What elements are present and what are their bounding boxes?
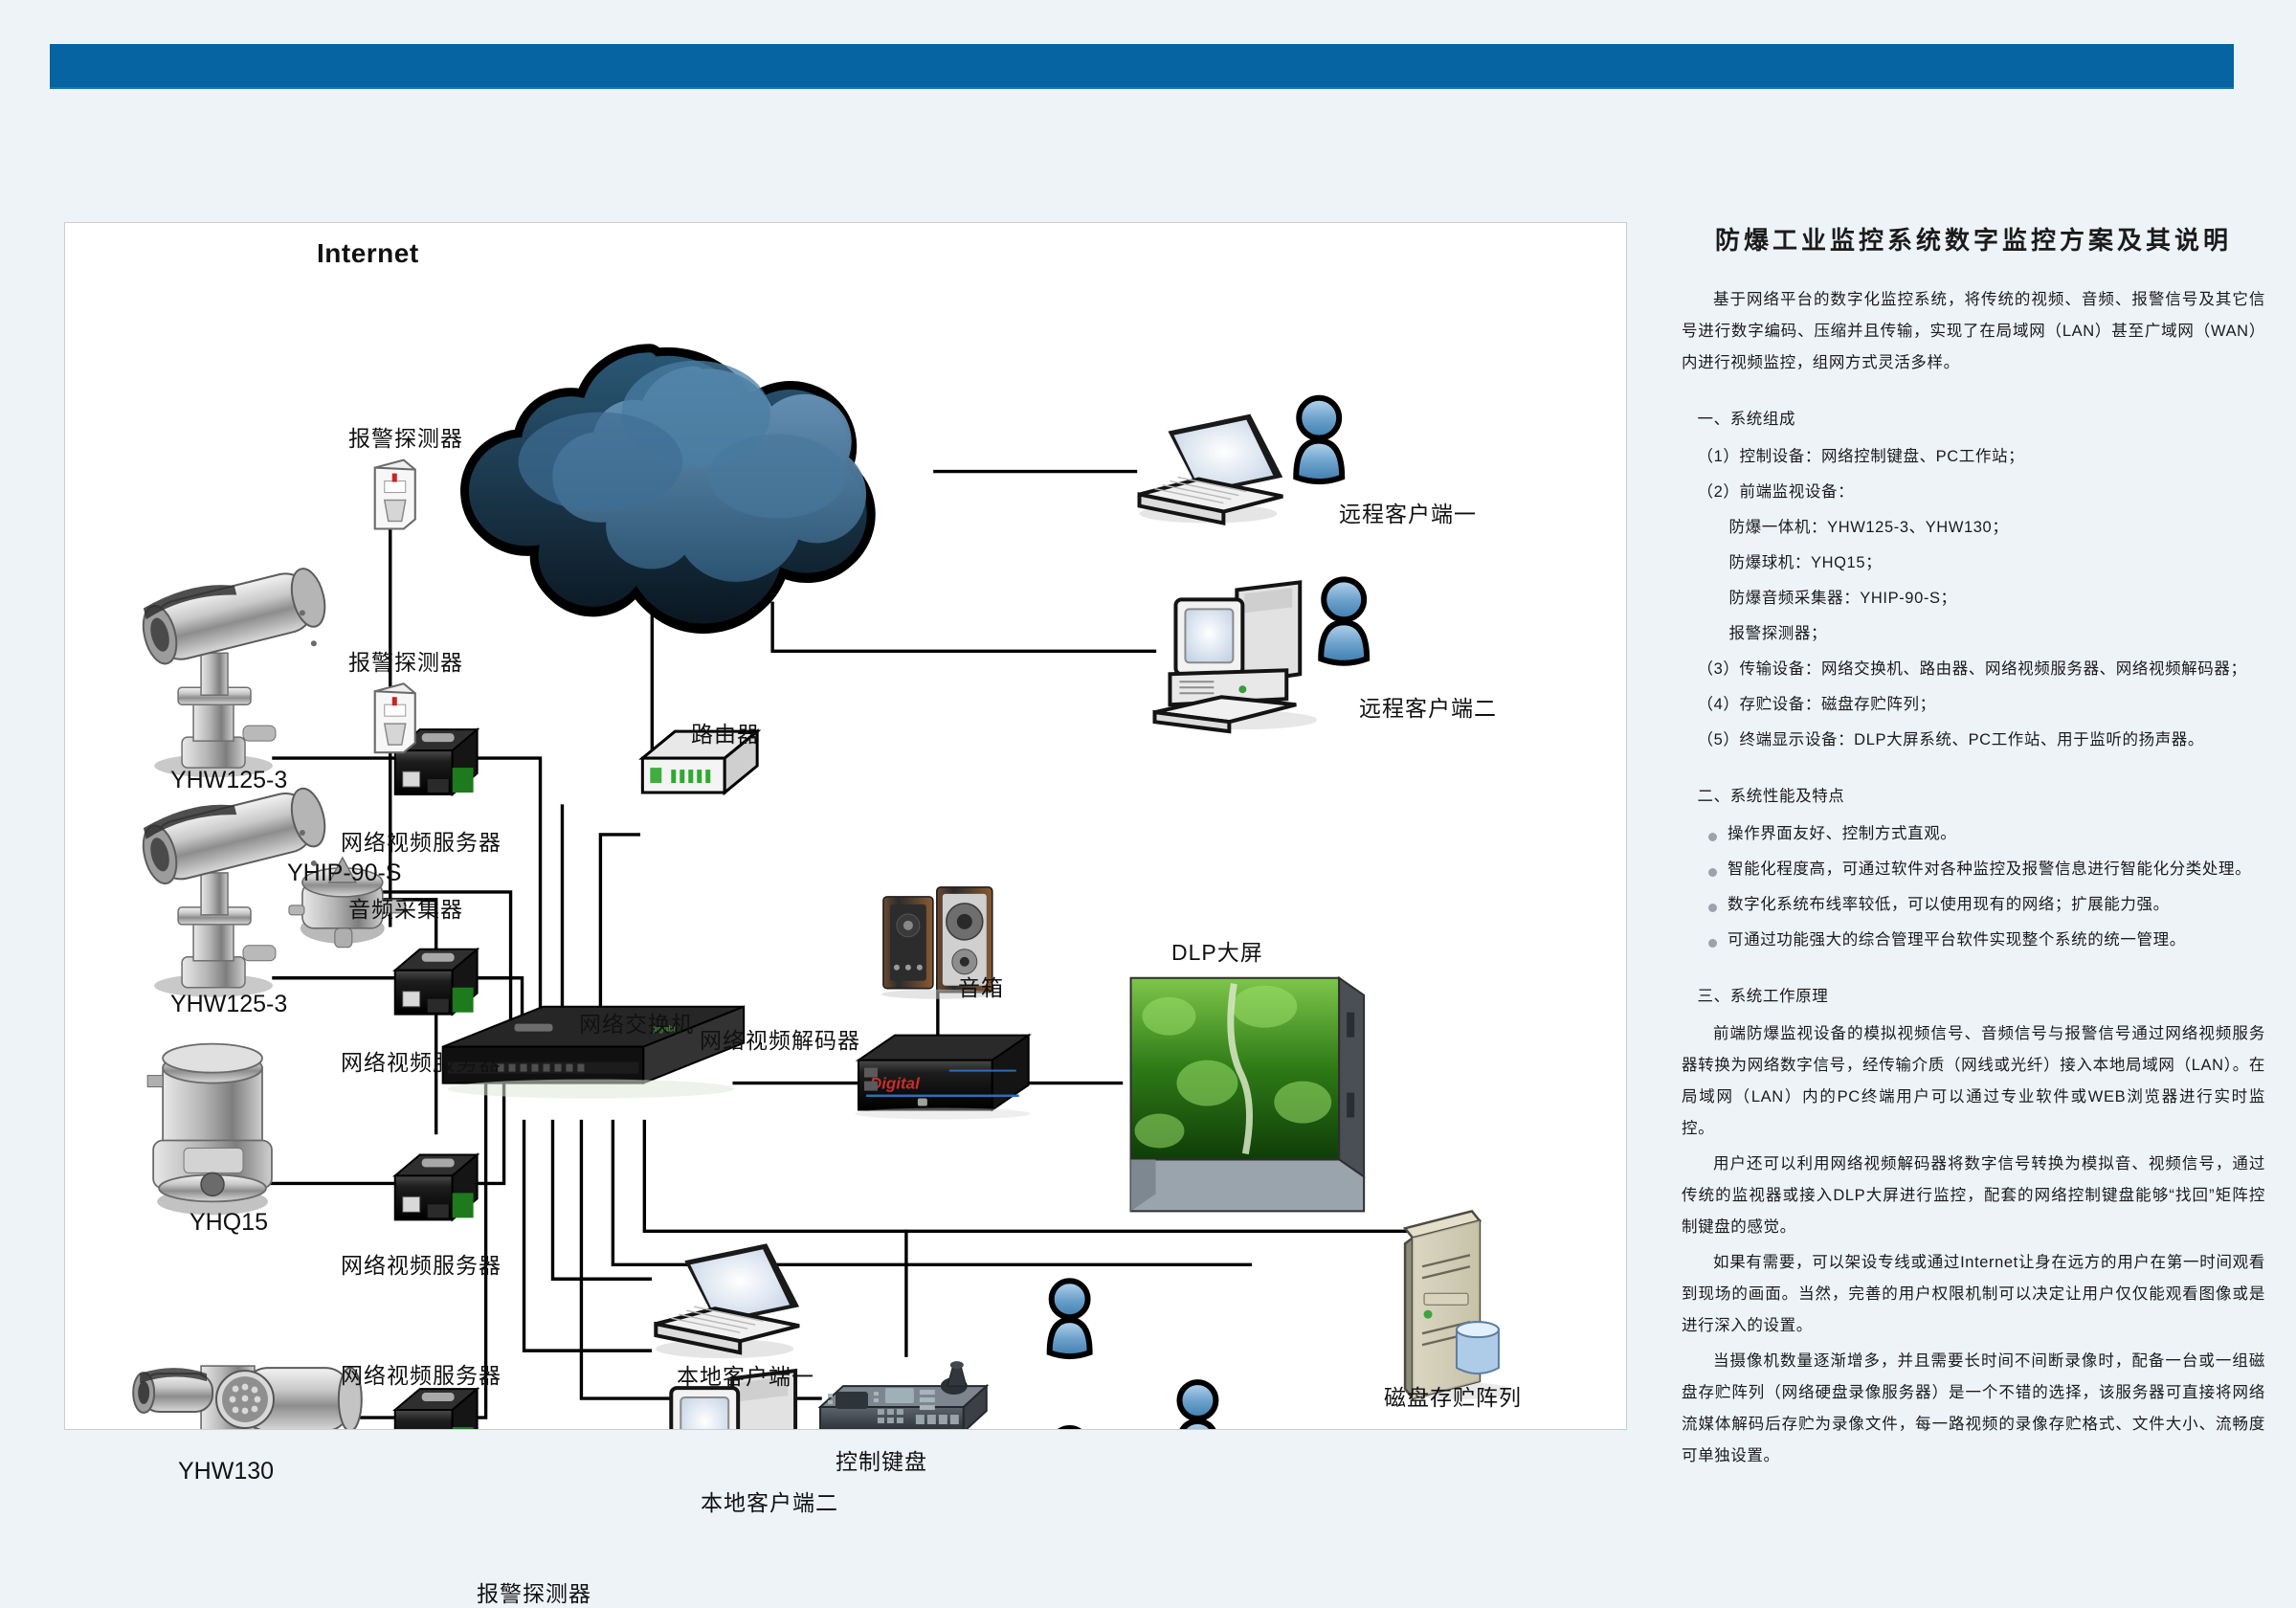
video-server-2-label: 网络视频服务器 — [341, 1044, 502, 1077]
remote-client-2-label: 远程客户端二 — [1359, 690, 1497, 723]
section-1-sub-2: 防爆球机：YHQ15； — [1682, 547, 2265, 579]
local-client-2-label: 本地客户端二 — [701, 1485, 838, 1517]
diagram-canvas: gigabit — [65, 223, 1626, 1429]
remote-client-1-laptop-icon — [1140, 414, 1283, 524]
router-label: 路由器 — [691, 716, 760, 748]
disk-storage-array-icon — [1405, 1211, 1512, 1399]
section-2-bullet-3: 数字化系统布线率较低，可以使用现有的网络；扩展能力强。 — [1682, 889, 2265, 921]
section-1-sub-4: 报警探测器； — [1682, 618, 2265, 650]
internet-label: Internet — [317, 238, 419, 269]
speaker-label: 音箱 — [958, 970, 1004, 1002]
control-keyboard-icon — [820, 1361, 987, 1429]
camera-yhw125-3-2-label: YHW125-3 — [170, 991, 287, 1018]
section-3-paragraph-1: 前端防爆监视设备的模拟视频信号、音频信号与报警信号通过网络视频服务器转换为网络数… — [1682, 1018, 2265, 1145]
document-text-panel: 防爆工业监控系统数字监控方案及其说明 基于网络平台的数字化监控系统，将传统的视频… — [1682, 226, 2265, 1470]
explosion-proof-camera-yhw125-3-2-icon — [136, 777, 330, 996]
section-1-item-1: （1）控制设备：网络控制键盘、PC工作站； — [1682, 441, 2265, 473]
section-1-item-4: （4）存贮设备：磁盘存贮阵列； — [1682, 689, 2265, 721]
camera-yhq15-label: YHQ15 — [189, 1209, 268, 1237]
section-1-heading: 一、系统组成 — [1682, 404, 2265, 435]
section-1-item-5: （5）终端显示设备：DLP大屏系统、PC工作站、用于监听的扬声器。 — [1682, 725, 2265, 756]
local-client-1-laptop-icon — [656, 1243, 799, 1358]
section-1-item-2: （2）前端监视设备： — [1682, 477, 2265, 508]
intro-paragraph: 基于网络平台的数字化监控系统，将传统的视频、音频、报警信号及其它信号进行数字编码… — [1682, 284, 2265, 379]
remote-client-1-label: 远程客户端一 — [1339, 496, 1477, 528]
audio-collector-label: 音频采集器 — [348, 891, 463, 924]
video-server-4-label: 网络视频服务器 — [341, 1357, 502, 1390]
alarm-detector-1-label: 报警探测器 — [348, 420, 463, 453]
control-keyboard-label: 控制键盘 — [836, 1443, 927, 1476]
section-3-heading: 三、系统工作原理 — [1682, 981, 2265, 1013]
section-2-heading: 二、系统性能及特点 — [1682, 781, 2265, 813]
section-2-bullet-1: 操作界面友好、控制方式直观。 — [1682, 818, 2265, 850]
page-title: 防爆工业监控系统数字监控方案及其说明 — [1682, 226, 2265, 256]
dlp-big-screen-icon — [1131, 978, 1365, 1212]
video-decoder-label: 网络视频解码器 — [700, 1022, 860, 1055]
disk-storage-array-label: 磁盘存贮阵列 — [1384, 1379, 1522, 1412]
camera-yhw125-3-label: YHW125-3 — [170, 767, 287, 794]
section-1-sub-3: 防爆音频采集器：YHIP-90-S； — [1682, 583, 2265, 614]
network-switch-label: 网络交换机 — [579, 1006, 694, 1038]
video-server-3-label: 网络视频服务器 — [341, 1247, 502, 1280]
network-topology-diagram: gigabit — [64, 222, 1627, 1430]
explosion-proof-dome-camera-yhq15-icon — [147, 1044, 272, 1216]
section-2-bullet-4: 可通过功能强大的综合管理平台软件实现整个系统的统一管理。 — [1682, 925, 2265, 956]
explosion-proof-camera-yhw125-3-icon — [136, 558, 330, 777]
dlp-screen-label: DLP大屏 — [1171, 934, 1263, 967]
audio-collector-model-label: YHIP-90-S — [287, 860, 401, 887]
remote-client-2-desktop-icon — [1154, 582, 1317, 731]
explosion-proof-camera-yhw130-icon — [133, 1366, 362, 1429]
section-1-item-3: （3）传输设备：网络交换机、路由器、网络视频服务器、网络视频解码器； — [1682, 654, 2265, 685]
network-video-decoder-icon: Digital — [855, 1036, 1031, 1120]
local-client-1-label: 本地客户端一 — [677, 1358, 814, 1391]
user-avatar-icon — [1050, 398, 1367, 1429]
internet-cloud-icon — [465, 348, 872, 634]
section-2-bullet-2: 智能化程度高，可通过软件对各种监控及报警信息进行智能化分类处理。 — [1682, 854, 2265, 885]
section-1-sub-1: 防爆一体机：YHW125-3、YHW130； — [1682, 512, 2265, 544]
camera-yhw130-label: YHW130 — [178, 1458, 274, 1485]
section-3-paragraph-3: 如果有需要，可以架设专线或通过Internet让身在远方的用户在第一时间观看到现… — [1682, 1247, 2265, 1342]
section-3-paragraph-4: 当摄像机数量逐渐增多，并且需要长时间不间断录像时，配备一台或一组磁盘存贮阵列（网… — [1682, 1346, 2265, 1472]
alarm-detector-3-label: 报警探测器 — [477, 1575, 591, 1608]
section-3-paragraph-2: 用户还可以利用网络视频解码器将数字信号转换为模拟音、视频信号，通过传统的监视器或… — [1682, 1149, 2265, 1243]
header-banner — [50, 44, 2234, 89]
video-server-1-label: 网络视频服务器 — [341, 824, 502, 857]
alarm-detector-2-label: 报警探测器 — [348, 644, 463, 677]
alarm-detector-icon — [375, 460, 457, 1429]
